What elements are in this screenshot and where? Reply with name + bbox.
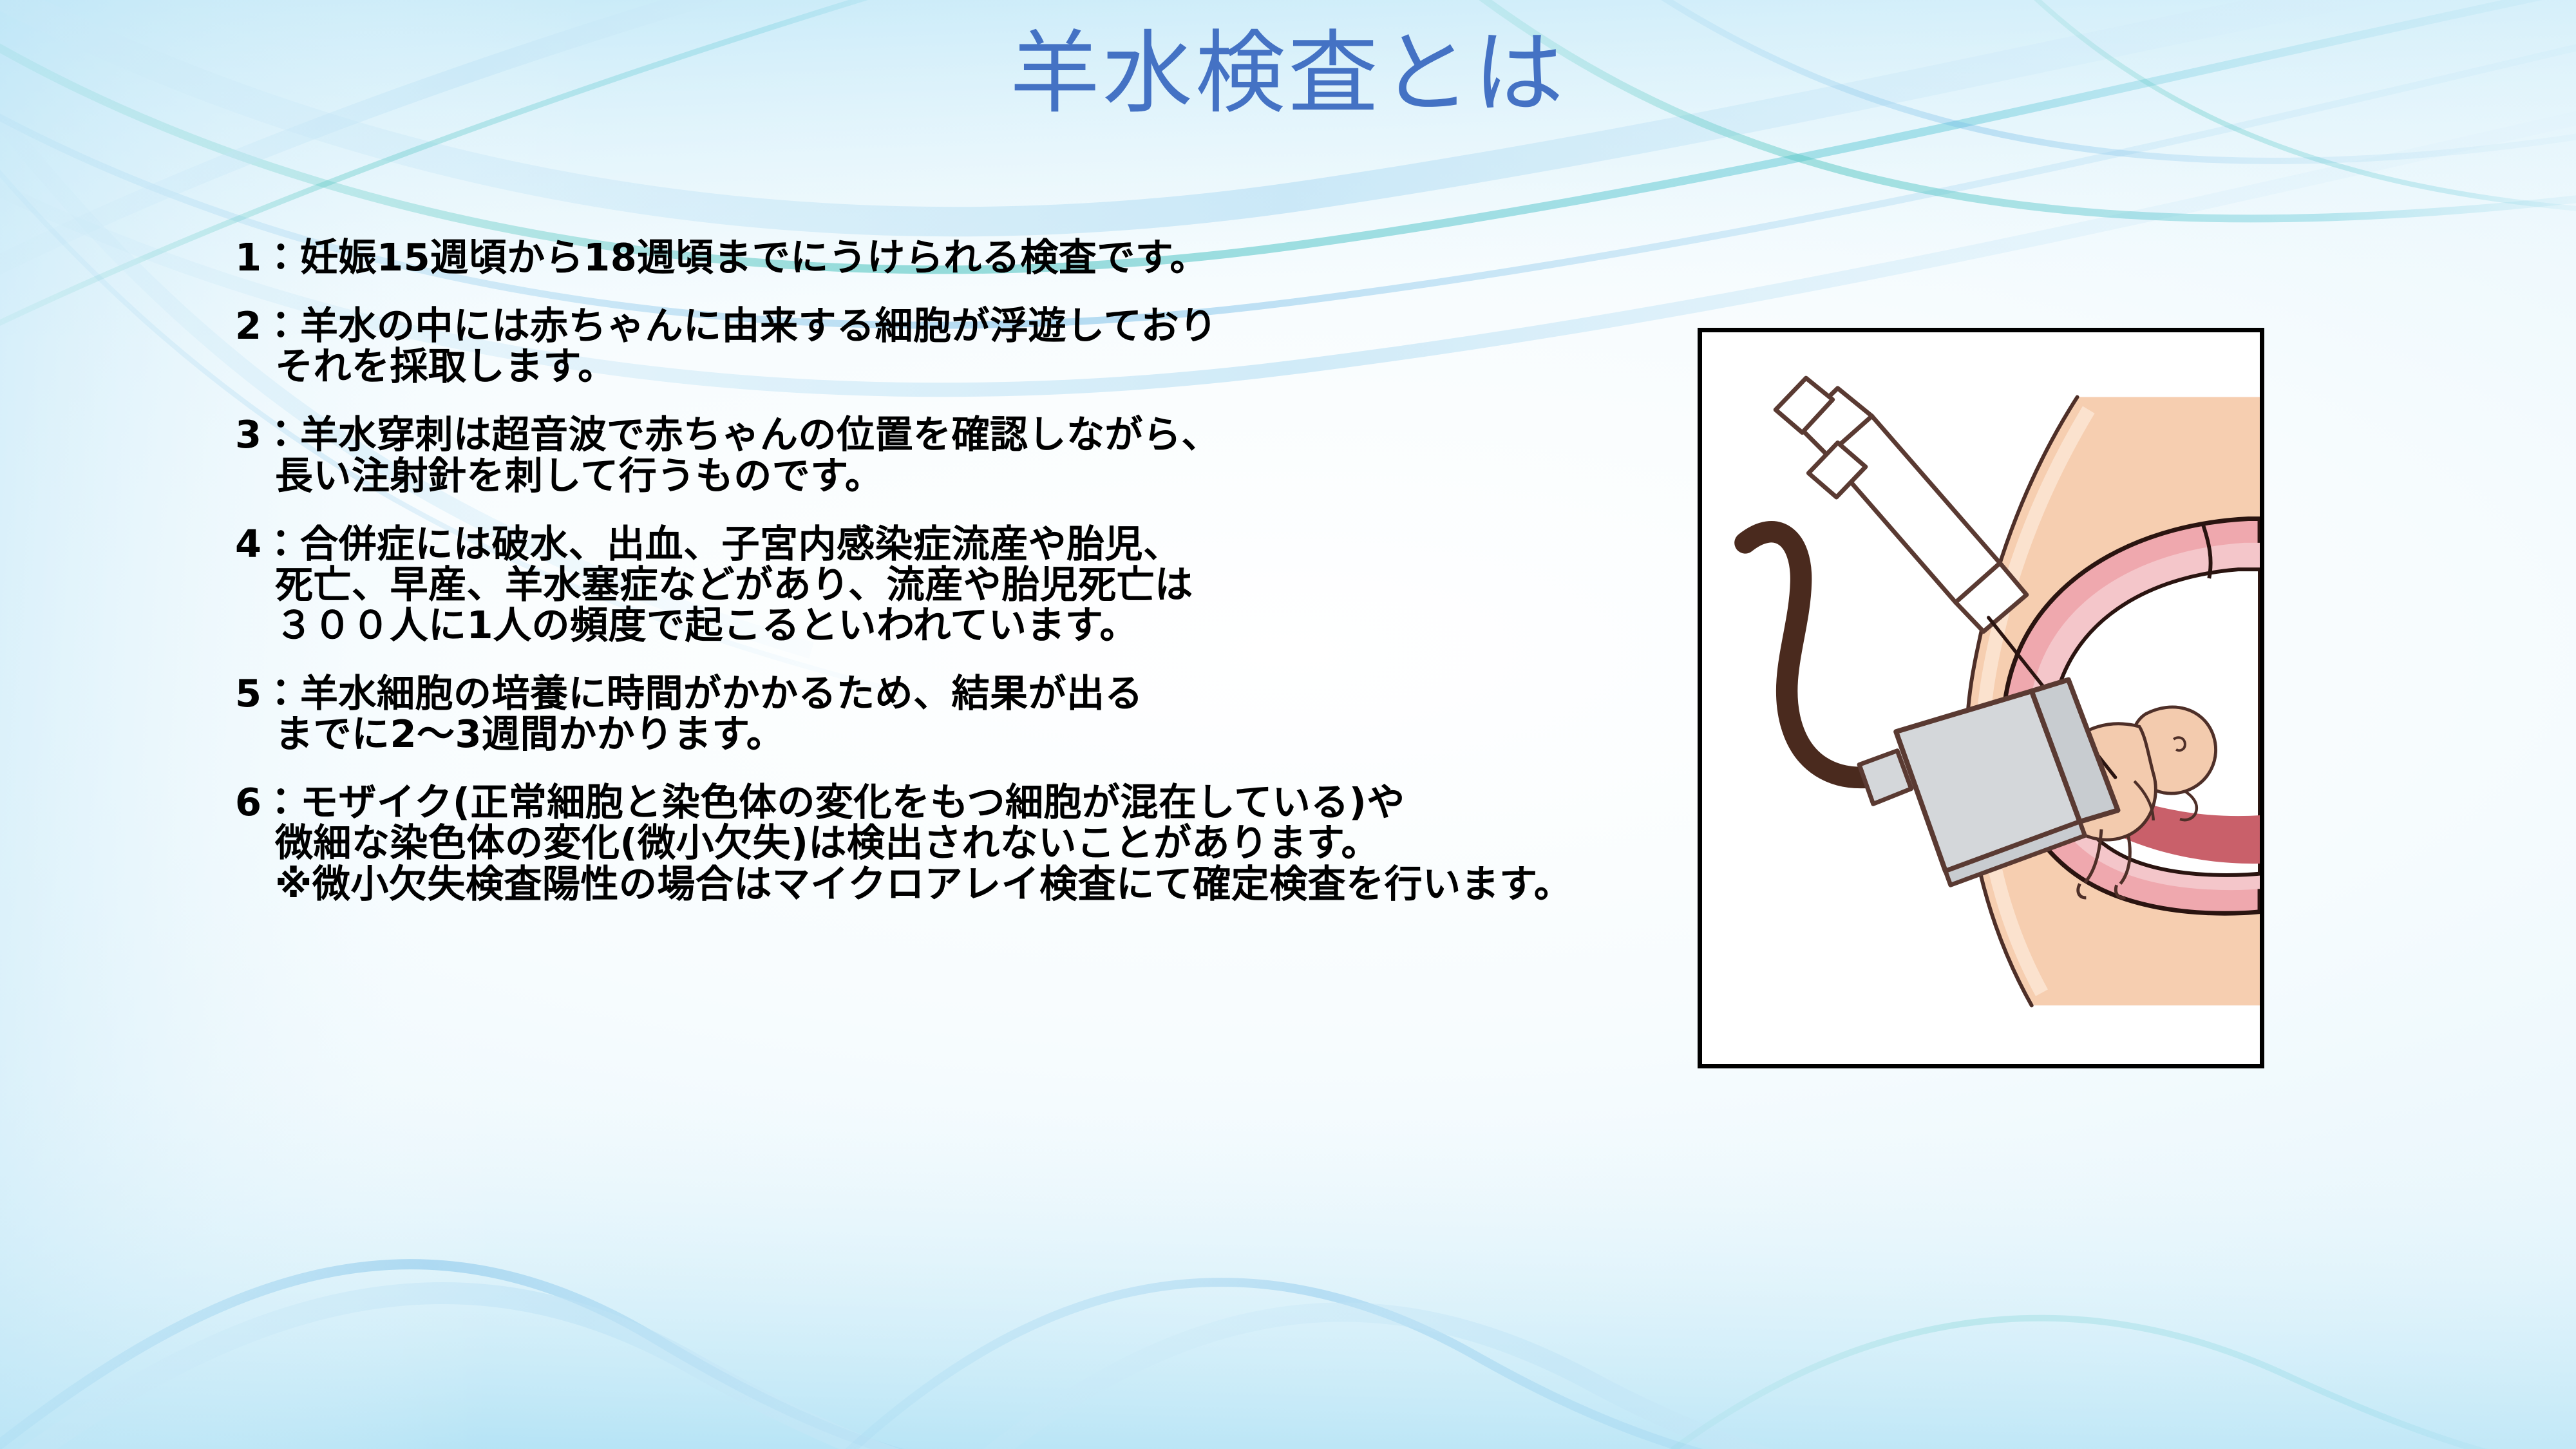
amniocentesis-illustration — [1698, 328, 2264, 1068]
list-item-3-line-1: 3：羊水穿刺は超音波で赤ちゃんの位置を確認しながら、 — [235, 414, 1671, 455]
list-item-4-line-1: 4：合併症には破水、出血、子宮内感染症流産や胎児、 — [235, 524, 1671, 564]
list-item-2-line-1: 2：羊水の中には赤ちゃんに由来する細胞が浮遊しており — [235, 305, 1671, 346]
slide-canvas: 羊水検査とは 1：妊娠15週頃から18週頃までにうけられる検査です。 2：羊水の… — [0, 0, 2576, 1449]
list-item-1: 1：妊娠15週頃から18週頃までにうけられる検査です。 — [235, 237, 1671, 278]
probe-cable-icon — [1745, 532, 1868, 778]
slide-title: 羊水検査とは — [0, 22, 2576, 126]
syringe-icon — [1776, 378, 2027, 632]
list-item-3: 3：羊水穿刺は超音波で赤ちゃんの位置を確認しながら、 長い注射針を刺して行うもの… — [235, 414, 1671, 495]
list-item-4-line-2: 死亡、早産、羊水塞症などがあり、流産や胎児死亡は — [235, 564, 1671, 605]
list-item-5: 5：羊水細胞の培養に時間がかかるため、結果が出る までに2～3週間かかります。 — [235, 673, 1671, 754]
list-item-6-line-2: 微細な染色体の変化(微小欠失)は検出されないことがあります。 — [235, 822, 1671, 863]
list-item-5-line-1: 5：羊水細胞の培養に時間がかかるため、結果が出る — [235, 673, 1671, 714]
list-item-4-line-3: ３００人に1人の頻度で起こるといわれています。 — [235, 605, 1671, 645]
list-item-2-line-2: それを採取します。 — [235, 346, 1671, 386]
list-item-6-line-3: ※微小欠失検査陽性の場合はマイクロアレイ検査にて確定検査を行います。 — [235, 864, 1671, 904]
list-item-4: 4：合併症には破水、出血、子宮内感染症流産や胎児、 死亡、早産、羊水塞症などがあ… — [235, 524, 1671, 645]
list-item-6: 6：モザイク(正常細胞と染色体の変化をもつ細胞が混在している)や 微細な染色体の… — [235, 782, 1671, 904]
list-item-5-line-2: までに2～3週間かかります。 — [235, 714, 1671, 754]
list-item-1-line-1: 1：妊娠15週頃から18週頃までにうけられる検査です。 — [235, 237, 1671, 278]
body-text-block: 1：妊娠15週頃から18週頃までにうけられる検査です。 2：羊水の中には赤ちゃん… — [235, 237, 1671, 904]
list-item-6-line-1: 6：モザイク(正常細胞と染色体の変化をもつ細胞が混在している)や — [235, 782, 1671, 822]
amniocentesis-figure-svg — [1702, 332, 2260, 1064]
list-item-3-line-2: 長い注射針を刺して行うものです。 — [235, 455, 1671, 496]
list-item-2: 2：羊水の中には赤ちゃんに由来する細胞が浮遊しており それを採取します。 — [235, 305, 1671, 386]
